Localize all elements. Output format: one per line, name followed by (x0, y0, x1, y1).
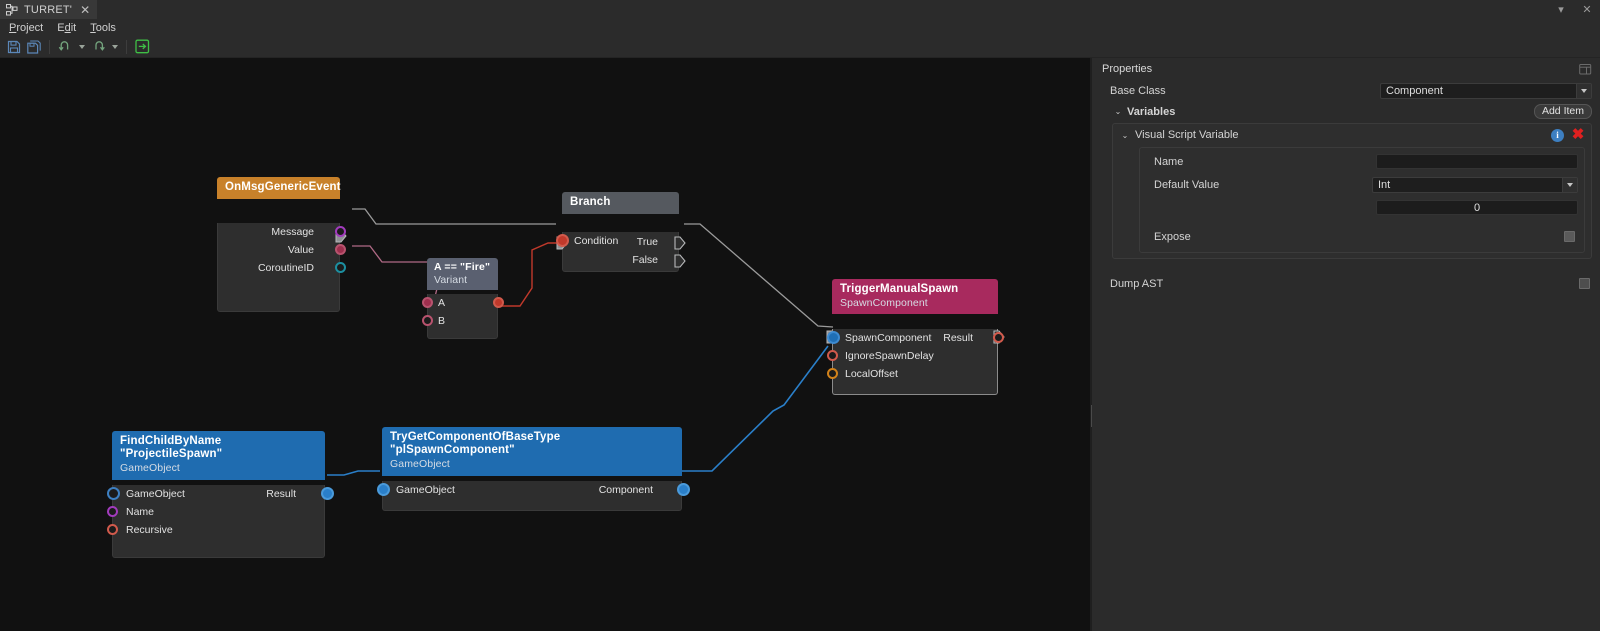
title-bar-spacer (97, 0, 1548, 19)
node-find-child-by-name[interactable]: FindChildByName "ProjectileSpawn" GameOb… (112, 431, 325, 558)
pin-label-ignorespawndelay: IgnoreSpawnDelay (845, 347, 934, 365)
variable-name-input[interactable] (1376, 154, 1578, 169)
variables-collapse-caret[interactable]: ⌄ (1112, 107, 1124, 116)
variable-name-field-col (1376, 154, 1578, 169)
variable-name-label: Name (1154, 156, 1183, 168)
redo-icon[interactable] (88, 37, 108, 57)
dump-ast-field-col (1579, 278, 1592, 289)
toolbar-separator-1 (49, 40, 50, 54)
dump-ast-label: Dump AST (1110, 278, 1163, 290)
tab-label: TURRET' (24, 4, 72, 16)
node-title-trigger-manual-spawn: TriggerManualSpawn SpawnComponent (832, 279, 998, 314)
window-minimize-button[interactable]: ▾ (1548, 0, 1574, 19)
pin-label-false: False (632, 251, 658, 269)
node-body-find-child-by-name: GameObject Result Name Recursive (112, 485, 325, 558)
add-item-button[interactable]: Add Item (1534, 104, 1592, 119)
undo-icon[interactable] (55, 37, 75, 57)
node-title-branch: Branch (562, 192, 679, 214)
pin-row-condition: Condition (563, 232, 678, 250)
pin-result-find[interactable] (321, 487, 334, 500)
pin-row-name-find: Name (113, 503, 324, 521)
pin-row-b: B (428, 312, 497, 330)
node-subtitle-find-child-by-name: GameObject (120, 462, 317, 474)
pin-row-message: Message (218, 223, 339, 241)
pin-row-localoffset: LocalOffset (833, 365, 997, 383)
main-toolbar (0, 36, 1600, 58)
pin-label-recursive-find: Recursive (126, 521, 173, 539)
node-subtitle-a-equals-fire: Variant (434, 274, 491, 286)
pin-name-find[interactable] (107, 506, 118, 517)
properties-title: Properties (1102, 63, 1152, 75)
pin-gameobject-try[interactable] (377, 483, 390, 496)
pin-ignorespawndelay[interactable] (827, 350, 838, 361)
pin-row-gameobject-find: GameObject Result (113, 485, 324, 503)
visual-script-variable-label: Visual Script Variable (1135, 129, 1239, 141)
pin-spawncomponent[interactable] (827, 331, 840, 344)
expose-label: Expose (1154, 231, 1191, 243)
pin-a[interactable] (422, 297, 433, 308)
wire-component-to-spawncomponent (682, 346, 828, 471)
row-variable-name: Name (1140, 151, 1578, 172)
expose-checkbox[interactable] (1564, 231, 1575, 242)
pin-label-b: B (438, 312, 445, 330)
window-close-button[interactable]: ✕ (1574, 0, 1600, 19)
default-value-number-col (1376, 200, 1578, 215)
properties-panel: Properties Base Class Component (1092, 58, 1600, 631)
export-icon[interactable] (132, 37, 152, 57)
node-title-text-find-child-by-name: FindChildByName "ProjectileSpawn" (120, 435, 222, 460)
variable-fields-box: Name Default Value Int (1139, 147, 1585, 253)
node-title-on-msg-generic-event: OnMsgGenericEvent (217, 177, 340, 199)
pin-condition[interactable] (556, 234, 569, 247)
menu-bar: Project Edit Tools (0, 19, 1600, 36)
row-default-value-number (1140, 197, 1578, 218)
wire-compare-to-condition (500, 243, 561, 306)
visual-script-editor-window: TURRET' ✕ ▾ ✕ Project Edit Tools (0, 0, 1600, 631)
menu-edit[interactable]: Edit (50, 21, 83, 35)
pin-row-value: Value (218, 241, 339, 259)
node-body-branch: True False Condition (562, 232, 679, 272)
pin-label-spawncomponent: SpawnComponent (845, 329, 931, 347)
title-bar: TURRET' ✕ ▾ ✕ (0, 0, 1600, 19)
chevron-down-icon[interactable] (1576, 84, 1591, 98)
pin-localoffset[interactable] (827, 368, 838, 379)
tab-close-icon[interactable]: ✕ (80, 4, 90, 16)
pin-label-message: Message (271, 223, 314, 241)
expose-field-col (1564, 231, 1578, 242)
node-title-text-a-equals-fire: A == "Fire" (434, 261, 490, 273)
node-title-text-try-get-component: TryGetComponentOfBaseType "plSpawnCompon… (390, 431, 560, 456)
visual-script-variable-group: ⌄ Visual Script Variable i ✖ Name (1112, 123, 1592, 259)
pin-label-name-find: Name (126, 503, 154, 521)
pin-component-try[interactable] (677, 483, 690, 496)
pin-label-component-try: Component (599, 481, 653, 499)
default-value-label: Default Value (1154, 179, 1219, 191)
save-all-icon[interactable] (24, 37, 44, 57)
pin-label-gameobject-find: GameObject (126, 485, 185, 503)
pin-label-a: A (438, 294, 445, 312)
node-subtitle-try-get-component: GameObject (390, 458, 674, 470)
toolbar-separator-2 (126, 40, 127, 54)
node-try-get-component-of-base-type[interactable]: TryGetComponentOfBaseType "plSpawnCompon… (382, 427, 682, 511)
node-title-find-child-by-name: FindChildByName "ProjectileSpawn" GameOb… (112, 431, 325, 480)
menu-tools[interactable]: Tools (83, 21, 123, 35)
pin-b[interactable] (422, 315, 433, 326)
node-trigger-manual-spawn[interactable]: TriggerManualSpawn SpawnComponent SpawnC… (832, 279, 998, 395)
properties-body: Base Class Component ⌄ Variables Add Ite… (1092, 80, 1600, 294)
menu-project[interactable]: Project (2, 21, 50, 35)
row-base-class: Base Class Component (1098, 80, 1592, 101)
menu-tools-label: ools (96, 22, 116, 34)
wire-branch-true-to-spawn (684, 224, 833, 327)
node-body-trigger-manual-spawn: SpawnComponent Result IgnoreSpawnDelay L… (832, 329, 998, 395)
pin-row-ignorespawndelay: IgnoreSpawnDelay (833, 347, 997, 365)
pin-row-a: A (428, 294, 497, 312)
pin-gameobject-find[interactable] (107, 487, 120, 500)
row-default-value: Default Value Int (1140, 174, 1578, 195)
node-title-text-trigger-manual-spawn: TriggerManualSpawn (840, 283, 958, 295)
row-variables-header: ⌄ Variables Add Item (1098, 101, 1592, 122)
pin-label-result-find: Result (266, 485, 296, 503)
redo-dropdown-icon[interactable] (108, 37, 121, 57)
base-class-field-col: Component (1380, 83, 1592, 99)
pin-row-recursive-find: Recursive (113, 521, 324, 539)
wire-exec-event-to-branch (352, 209, 556, 224)
default-value-number-input[interactable] (1376, 200, 1578, 215)
pin-row-spawncomponent: SpawnComponent Result (833, 329, 997, 347)
variables-label: Variables (1127, 106, 1175, 118)
wire-findchild-to-trygetcomponent (327, 471, 380, 475)
graph-node-icon (6, 4, 18, 16)
variable-collapse-caret[interactable]: ⌄ (1119, 131, 1131, 140)
pin-label-coroutineid: CoroutineID (258, 259, 314, 277)
pin-label-condition: Condition (574, 232, 618, 250)
default-value-type: Int (1378, 178, 1562, 192)
menu-project-label: roject (16, 22, 43, 34)
dock-window-icon[interactable] (1579, 63, 1592, 76)
info-icon[interactable]: i (1551, 129, 1564, 142)
node-title-try-get-component: TryGetComponentOfBaseType "plSpawnCompon… (382, 427, 682, 476)
pin-label-localoffset: LocalOffset (845, 365, 898, 383)
row-dump-ast: Dump AST (1098, 273, 1592, 294)
pin-label-result-spawn: Result (943, 329, 973, 347)
pin-label-value: Value (288, 241, 314, 259)
node-body-try-get-component: GameObject Component (382, 481, 682, 511)
base-class-label: Base Class (1110, 85, 1166, 97)
undo-dropdown-icon[interactable] (75, 37, 88, 57)
dump-ast-checkbox[interactable] (1579, 278, 1590, 289)
node-subtitle-trigger-manual-spawn: SpawnComponent (840, 297, 990, 309)
pin-exec-out-false[interactable] (674, 254, 686, 268)
base-class-combo[interactable]: Component (1380, 83, 1592, 99)
document-tab-turret[interactable]: TURRET' ✕ (0, 0, 97, 19)
default-value-type-combo[interactable]: Int (1372, 177, 1578, 193)
pin-label-gameobject-try: GameObject (396, 481, 455, 499)
node-title-a-equals-fire: A == "Fire" Variant (427, 258, 498, 290)
node-on-msg-generic-event[interactable]: OnMsgGenericEvent Message Value Coroutin… (217, 177, 340, 312)
save-icon[interactable] (4, 37, 24, 57)
properties-header: Properties (1092, 58, 1600, 80)
visual-script-variable-header: ⌄ Visual Script Variable i ✖ (1119, 125, 1585, 145)
row-expose: Expose (1140, 226, 1578, 247)
pin-row-coroutineid: CoroutineID (218, 259, 339, 277)
chevron-down-icon-default-value[interactable] (1562, 178, 1577, 192)
node-branch[interactable]: Branch True False Condition (562, 192, 679, 272)
node-body-a-equals-fire: A B (427, 294, 498, 339)
pin-row-gameobject-try: GameObject Component (383, 481, 681, 499)
menu-edit-label: it (71, 22, 77, 34)
graph-canvas[interactable]: OnMsgGenericEvent Message Value Coroutin… (0, 58, 1090, 631)
delete-icon[interactable]: ✖ (1571, 128, 1585, 142)
pin-recursive-find[interactable] (107, 524, 118, 535)
node-body-on-msg-generic-event: Message Value CoroutineID (217, 223, 340, 312)
base-class-value: Component (1386, 84, 1576, 98)
variables-actions: Add Item (1534, 104, 1592, 119)
node-a-equals-fire[interactable]: A == "Fire" Variant A B (427, 258, 498, 339)
default-value-field-col: Int (1372, 177, 1578, 193)
